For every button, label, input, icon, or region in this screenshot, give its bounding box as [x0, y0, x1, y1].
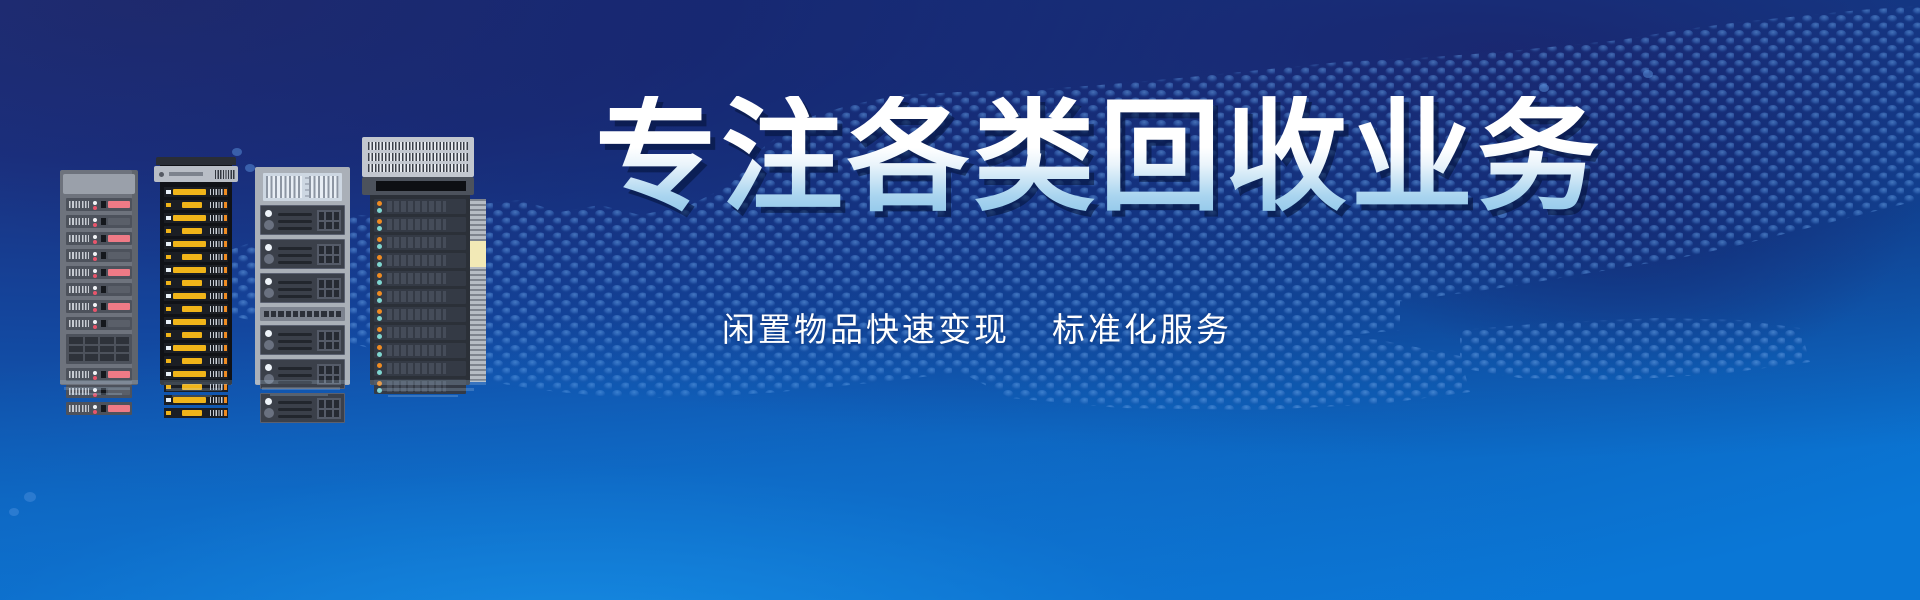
blade: [260, 239, 345, 269]
blade: [374, 361, 466, 376]
rack-3-display-panel: [263, 173, 342, 201]
rack-4-side-label: [470, 241, 486, 267]
blade: [164, 239, 228, 249]
hero-banner: 专注各类回收业务 闲置物品快速变现标准化服务: [0, 0, 1920, 600]
server-rack-illustration: [50, 145, 500, 385]
blade: [66, 317, 132, 330]
blade: [374, 307, 466, 322]
server-rack-3: [255, 167, 350, 385]
subtitle-part-2: 标准化服务: [1052, 311, 1232, 348]
patch-panel: [260, 307, 345, 321]
subtitle: 闲置物品快速变现标准化服务: [722, 303, 1232, 351]
blade: [66, 283, 132, 296]
blade: [164, 291, 228, 301]
rack-4-side-column: [470, 199, 486, 382]
blade: [260, 273, 345, 303]
rack-3-body: [260, 205, 345, 382]
blade: [66, 232, 132, 245]
rack-2-hood: [156, 157, 236, 165]
server-rack-4: [370, 185, 470, 385]
blade: [66, 300, 132, 313]
blade: [164, 226, 228, 236]
patch-panel: [66, 334, 132, 364]
blade: [164, 343, 228, 353]
server-rack-1: [60, 170, 138, 385]
rack-2-top-unit: [154, 166, 238, 182]
blade: [66, 249, 132, 262]
blade: [164, 187, 228, 197]
blade: [374, 253, 466, 268]
blade: [164, 330, 228, 340]
rack-reflections: [0, 378, 1920, 438]
blade: [66, 215, 132, 228]
blade: [260, 205, 345, 235]
blade: [374, 271, 466, 286]
server-rack-2: [160, 157, 232, 385]
blade: [66, 266, 132, 279]
blade: [260, 325, 345, 355]
subtitle-part-1: 闲置物品快速变现: [722, 311, 1010, 348]
rack-1-body: [66, 198, 132, 381]
page-title: 专注各类回收业务: [595, 96, 1603, 218]
rack-2-body: [164, 187, 228, 381]
rack-1-top-cap: [63, 174, 135, 194]
blade: [374, 199, 466, 214]
blade: [374, 217, 466, 232]
rack-4-body: [374, 199, 466, 382]
rack-4-top-cabinet: [362, 137, 474, 177]
blade: [164, 356, 228, 366]
rack-4-visor: [362, 177, 474, 195]
blade: [164, 265, 228, 275]
blade: [374, 235, 466, 250]
blade: [164, 304, 228, 314]
blade: [164, 317, 228, 327]
blade: [66, 198, 132, 211]
blade: [164, 252, 228, 262]
blade: [164, 278, 228, 288]
blade: [374, 289, 466, 304]
blade: [374, 343, 466, 358]
blade: [164, 213, 228, 223]
blade: [164, 200, 228, 210]
blade: [374, 325, 466, 340]
